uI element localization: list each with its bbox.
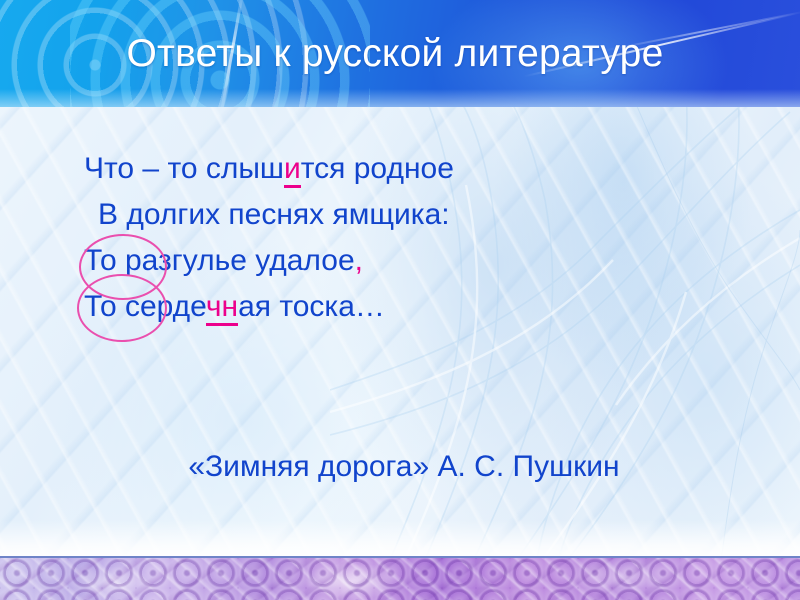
poem-citation: «Зимняя дорога» А. С. Пушкин [84, 447, 724, 487]
highlighted-punctuation: , [355, 244, 363, 277]
poem-text: Что – то слыш [84, 152, 284, 185]
poem-line-2: В долгих песнях ямщика: [84, 192, 724, 238]
poem-line-1: Что – то слышится родное [84, 146, 724, 192]
poem-block: Что – то слышится родное В долгих песнях… [84, 146, 724, 330]
slide: Ответы к русской литературе Что – то слы… [0, 0, 800, 600]
poem-text: То разгулье удалое [84, 244, 355, 277]
poem-text: ая тоска… [238, 290, 385, 323]
poem-text: тся родное [301, 152, 454, 185]
highlighted-letter: и [284, 152, 301, 188]
highlighted-letters: чн [206, 290, 238, 326]
poem-text: В долгих песнях ямщика: [98, 198, 450, 231]
slide-title: Ответы к русской литературе [0, 33, 800, 76]
footer-fade [0, 520, 800, 556]
poem-line-4: То сердечная тоска… [84, 284, 724, 330]
footer-texture [0, 558, 800, 600]
footer-band [0, 556, 800, 600]
header-bottom-fade [0, 89, 800, 107]
poem-text: То серде [84, 290, 206, 323]
poem-line-3: То разгулье удалое, [84, 238, 724, 284]
